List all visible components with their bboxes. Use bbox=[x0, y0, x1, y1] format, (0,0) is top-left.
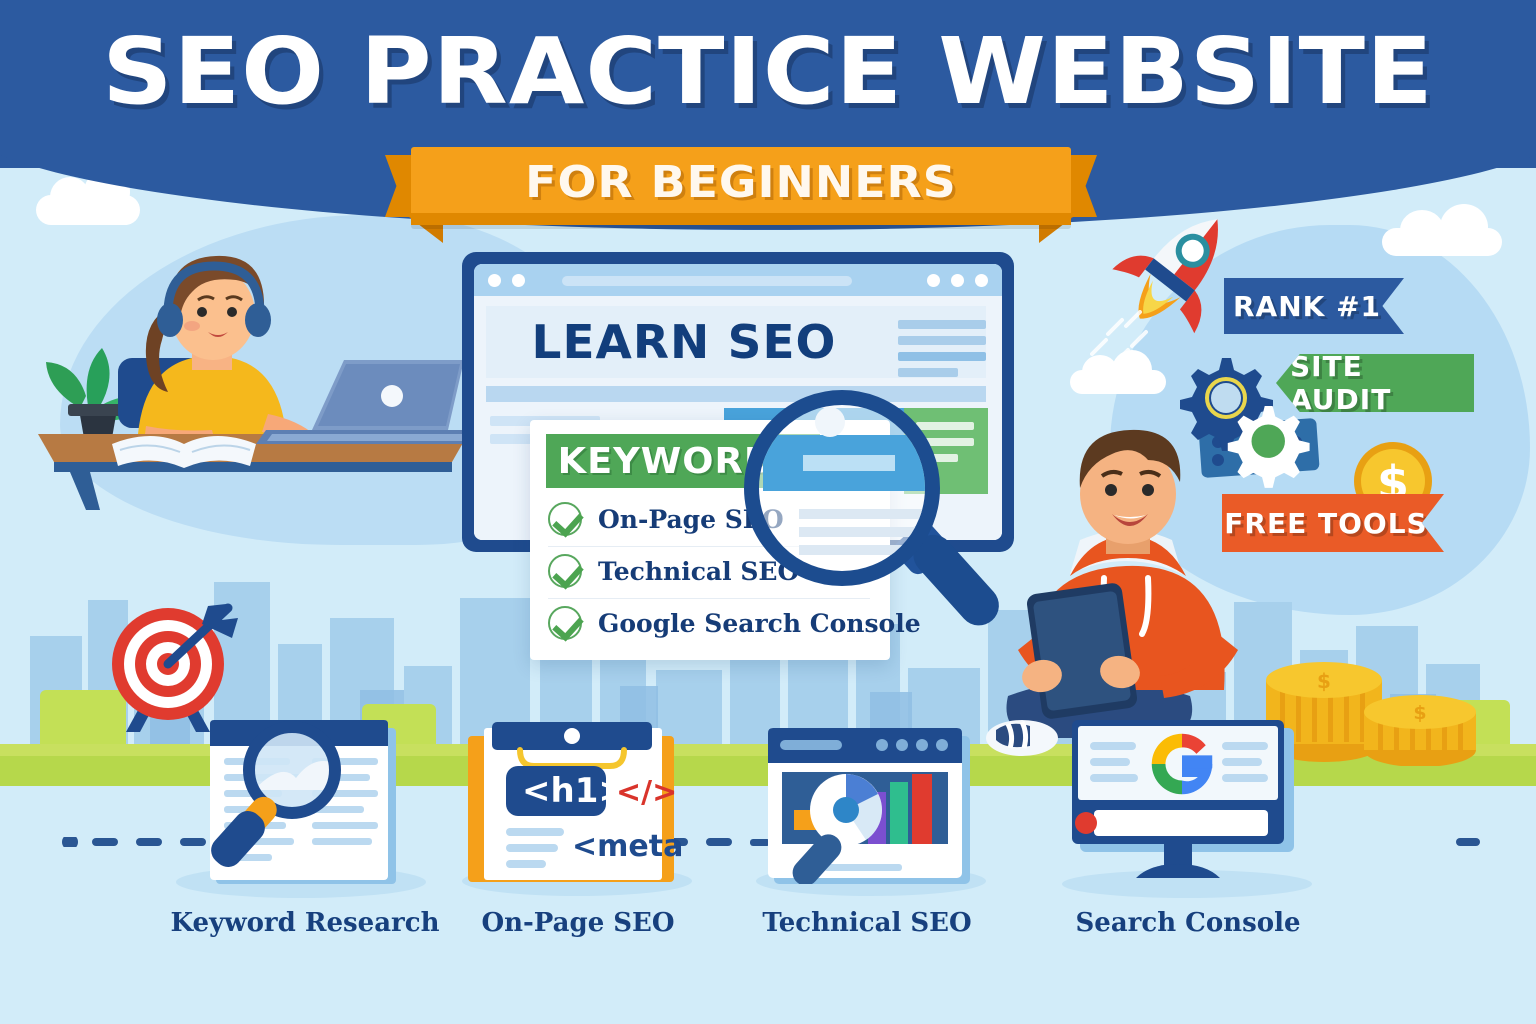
step-card-on-page-seo[interactable]: <h1> </> <meta bbox=[462, 716, 690, 884]
lens-text-line bbox=[799, 509, 929, 519]
check-circle-icon bbox=[548, 554, 582, 588]
browser-title-bar bbox=[474, 264, 1002, 296]
badge-rank-1[interactable]: RANK #1 bbox=[1224, 278, 1404, 334]
tag-meta: <meta bbox=[572, 829, 683, 864]
window-dot[interactable] bbox=[927, 274, 940, 287]
step-label-search-console: Search Console bbox=[1028, 908, 1348, 938]
cloud-icon bbox=[36, 195, 140, 225]
svg-text:$: $ bbox=[1413, 702, 1426, 724]
window-dot[interactable] bbox=[975, 274, 988, 287]
text-line bbox=[898, 352, 986, 361]
lens-text-line bbox=[803, 455, 895, 471]
checklist-item[interactable]: Google Search Console bbox=[548, 606, 921, 640]
lens-text-line bbox=[799, 545, 929, 555]
step-label-on-page-seo: On-Page SEO bbox=[418, 908, 738, 938]
illustration-woman-at-laptop bbox=[20, 238, 520, 538]
badge-site-audit[interactable]: SITE AUDIT bbox=[1276, 354, 1474, 412]
check-circle-icon bbox=[548, 502, 582, 536]
ribbon-label: FOR BEGINNERS bbox=[398, 147, 1084, 217]
badge-label: SITE AUDIT bbox=[1290, 350, 1474, 416]
address-bar[interactable] bbox=[562, 276, 852, 286]
magnifying-glass-icon bbox=[744, 390, 940, 586]
step-card-technical-seo[interactable] bbox=[762, 718, 978, 884]
tag-h1: <h1> bbox=[522, 771, 627, 811]
infographic-canvas: LEARN SEO KEYWORDS On-Page bbox=[0, 0, 1536, 1024]
lens-text-line bbox=[799, 527, 929, 537]
text-line bbox=[898, 336, 986, 345]
window-dot[interactable] bbox=[512, 274, 525, 287]
cloud-icon bbox=[1070, 370, 1166, 394]
checklist-item-label: Google Search Console bbox=[598, 609, 921, 638]
lens-highlight bbox=[815, 407, 845, 437]
svg-text:$: $ bbox=[1317, 669, 1331, 693]
subtitle-ribbon: FOR BEGINNERS bbox=[385, 147, 1097, 229]
window-dot[interactable] bbox=[951, 274, 964, 287]
badge-label: RANK #1 bbox=[1233, 290, 1381, 323]
step-card-keyword-research[interactable] bbox=[208, 706, 404, 884]
hero-heading: LEARN SEO bbox=[490, 310, 878, 374]
tag-close: </> bbox=[616, 775, 677, 810]
cloud-icon bbox=[1382, 228, 1502, 256]
step-card-search-console[interactable] bbox=[1066, 710, 1306, 888]
check-circle-icon bbox=[548, 606, 582, 640]
step-label-technical-seo: Technical SEO bbox=[707, 908, 1027, 938]
step-label-keyword-research: Keyword Research bbox=[145, 908, 465, 938]
page-title: SEO PRACTICE WEBSITE bbox=[0, 18, 1536, 125]
google-g-icon bbox=[1152, 734, 1212, 794]
checklist-item-label: Technical SEO bbox=[598, 557, 799, 586]
content-divider bbox=[486, 386, 986, 402]
text-line bbox=[916, 422, 974, 430]
rocket-trail bbox=[1076, 306, 1166, 370]
text-line bbox=[898, 320, 986, 329]
checklist-item[interactable]: Technical SEO bbox=[548, 554, 799, 588]
text-line bbox=[898, 368, 958, 377]
window-dot[interactable] bbox=[488, 274, 501, 287]
divider bbox=[548, 598, 870, 599]
